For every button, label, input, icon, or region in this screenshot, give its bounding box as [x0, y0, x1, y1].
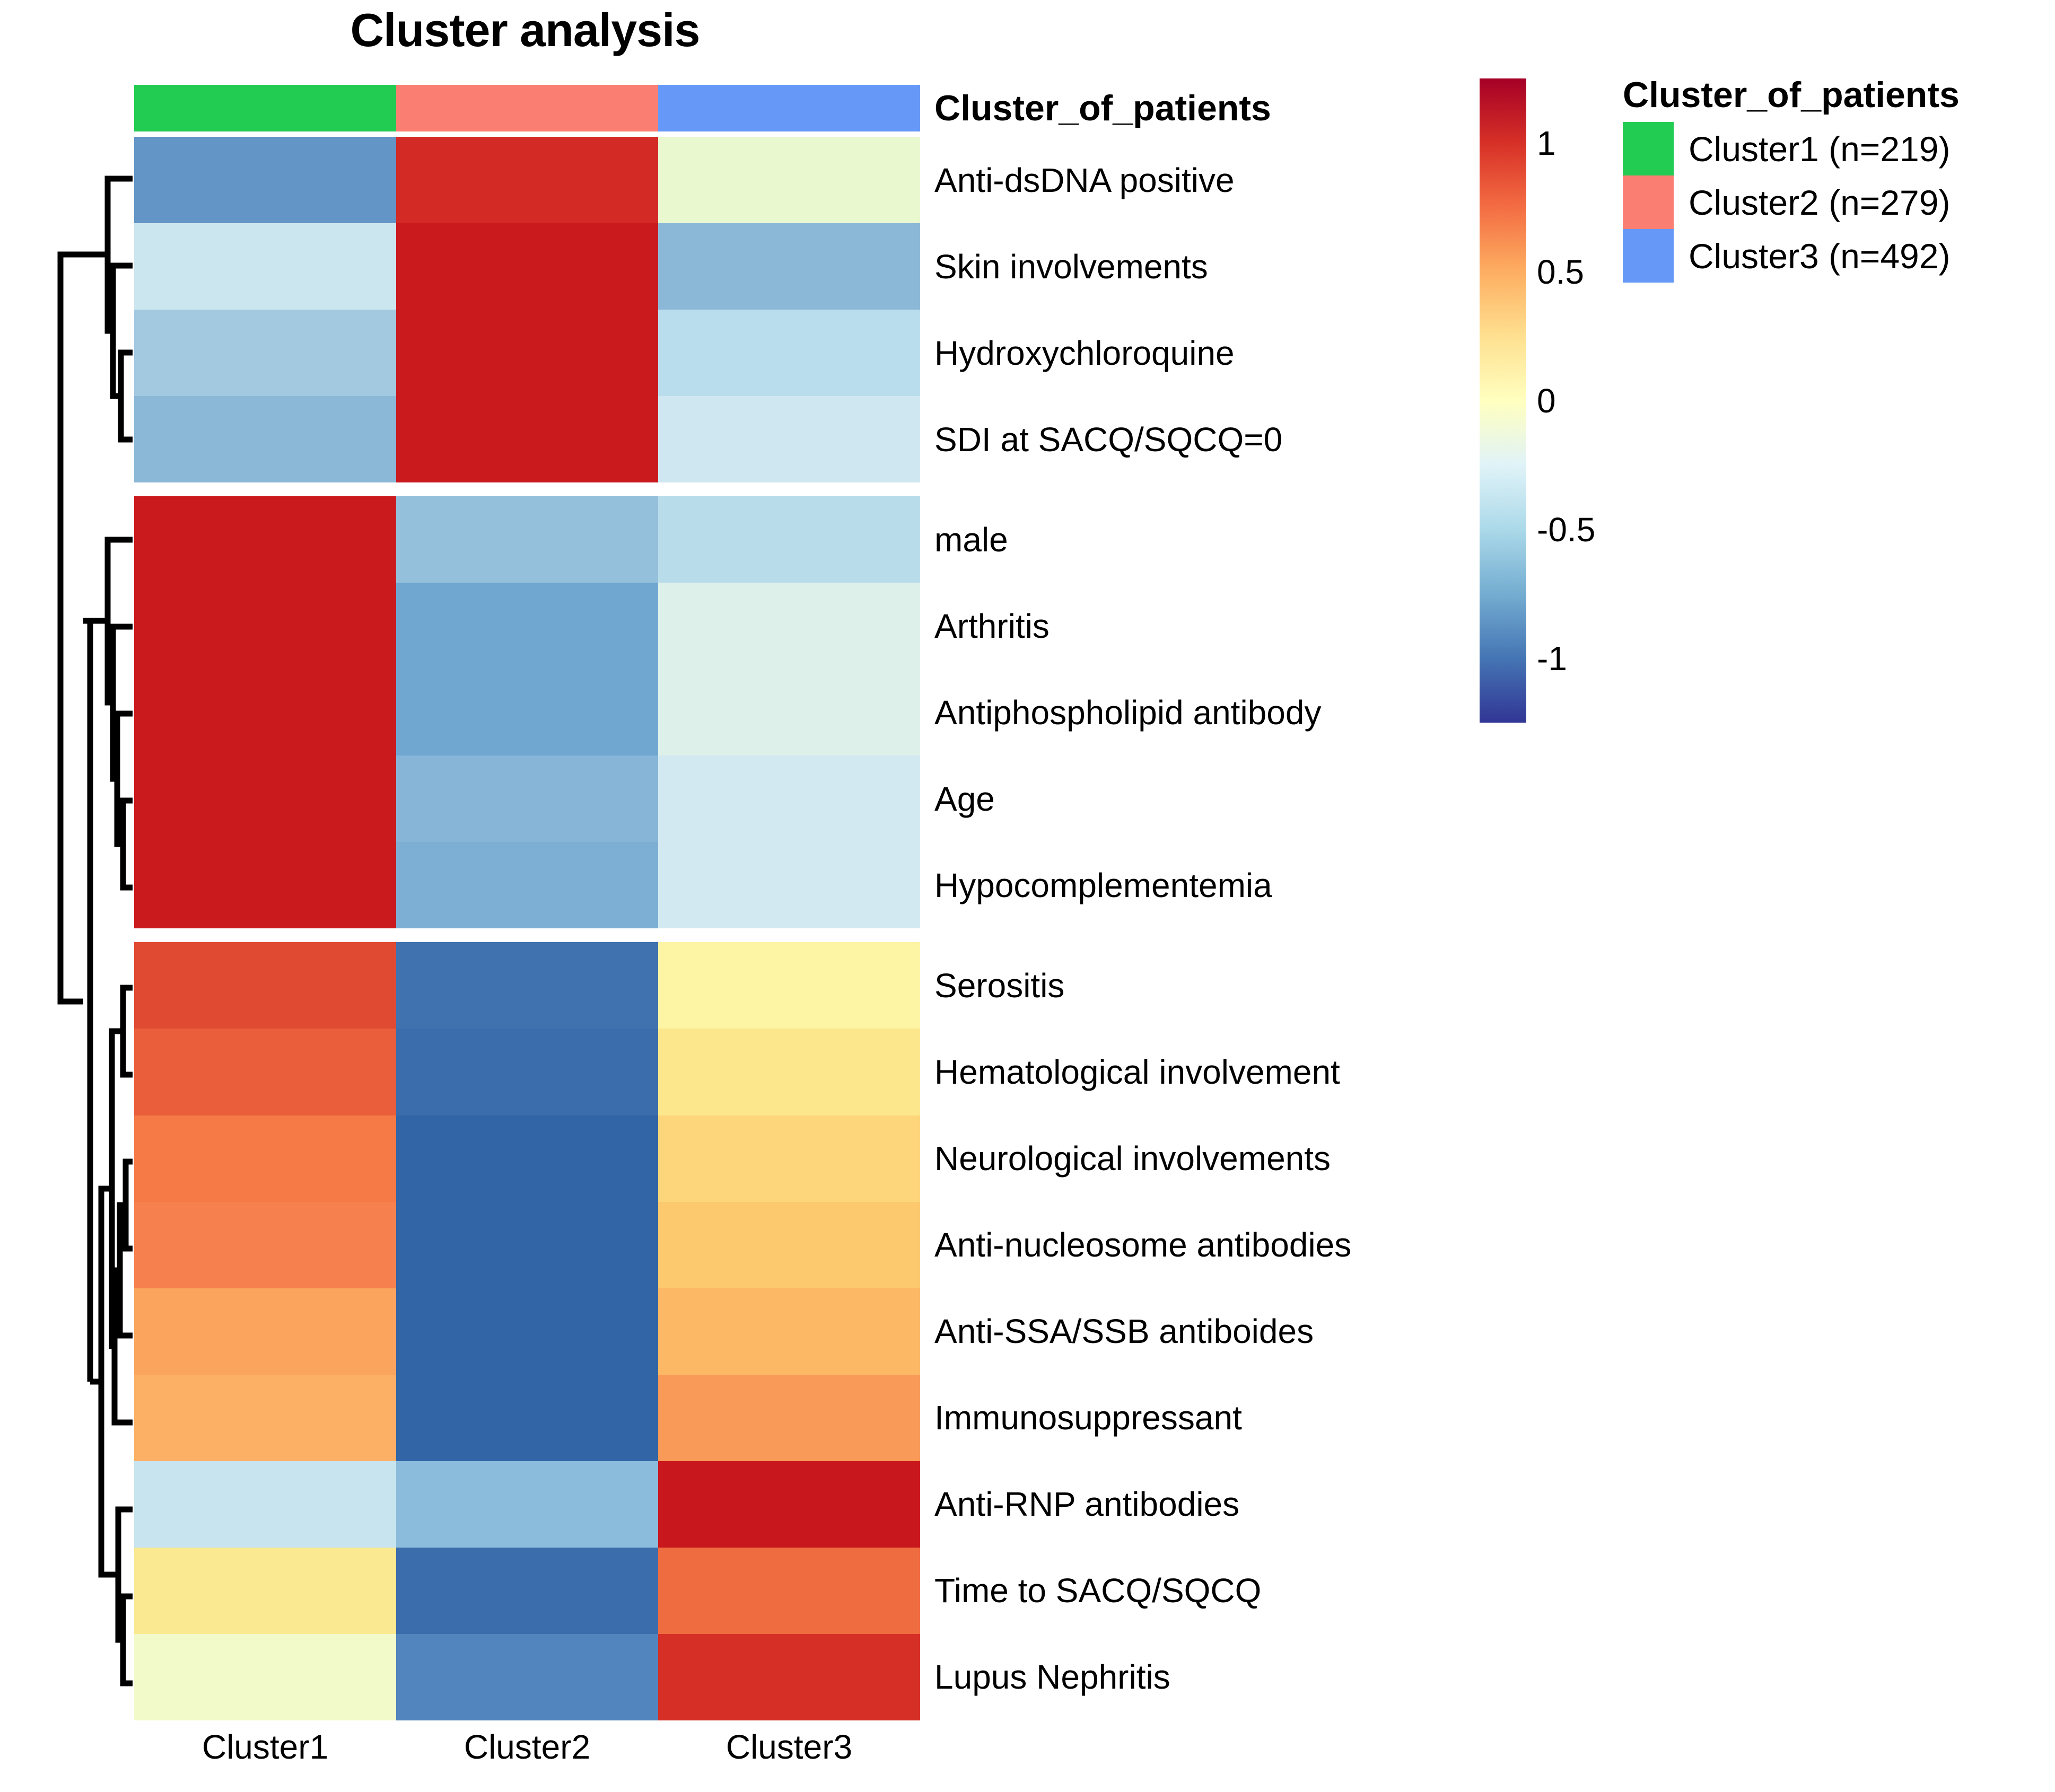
- heatmap-row: [134, 942, 920, 1029]
- colorbar-tick-label: -0.5: [1537, 510, 1595, 549]
- heatmap-cell: [134, 1375, 396, 1461]
- anno-cell-cluster3: [658, 85, 920, 131]
- heatmap-cell: [134, 310, 396, 396]
- heatmap-cell: [134, 396, 396, 482]
- heatmap-cell: [134, 137, 396, 223]
- heatmap-row: [134, 310, 920, 396]
- heatmap-cell: [658, 942, 920, 1029]
- heatmap-row-label: Antiphospholipid antibody: [934, 669, 1465, 756]
- heatmap-row: [134, 583, 920, 669]
- heatmap-cell: [134, 1029, 396, 1115]
- heatmap-row-label: Time to SACQ/SQCQ: [934, 1548, 1465, 1634]
- heatmap-cell: [134, 1548, 396, 1634]
- heatmap-row-group: [134, 496, 920, 928]
- heatmap-row: [134, 223, 920, 310]
- heatmap-cell: [658, 1461, 920, 1548]
- heatmap-row-label: Anti-dsDNA positive: [934, 137, 1465, 223]
- heatmap-row-label: Arthritis: [934, 583, 1465, 669]
- heatmap-cell: [396, 496, 658, 583]
- row-label-group-gap: [934, 482, 1465, 496]
- cluster-annotation-bar: [134, 85, 920, 131]
- heatmap-cell: [396, 1115, 658, 1202]
- heatmap-cell: [396, 1461, 658, 1548]
- heatmap-cell: [658, 1548, 920, 1634]
- heatmap-cell: [658, 1288, 920, 1375]
- colorbar-legend: 10.50-0.5-1: [1480, 78, 1639, 723]
- heatmap-row: [134, 1634, 920, 1720]
- heatmap-cell: [396, 583, 658, 669]
- heatmap-cell: [658, 669, 920, 756]
- anno-cell-cluster2: [396, 85, 658, 131]
- heatmap-cell: [658, 756, 920, 842]
- row-label-group-gap: [934, 928, 1465, 942]
- heatmap-row-label: Skin involvements: [934, 223, 1465, 310]
- row-label-group: maleArthritisAntiphospholipid antibodyAg…: [934, 496, 1465, 928]
- heatmap-cell: [396, 137, 658, 223]
- heatmap-cell: [134, 223, 396, 310]
- column-label-1: Cluster1: [134, 1727, 396, 1786]
- heatmap-row-label: Serositis: [934, 942, 1465, 1029]
- row-dendrogram: [45, 135, 133, 1720]
- legend-item-cluster2: Cluster2 (n=279): [1623, 175, 2047, 229]
- heatmap-row-label: Hydroxychloroquine: [934, 310, 1465, 396]
- heatmap-row: [134, 496, 920, 583]
- heatmap-row: [134, 1548, 920, 1634]
- heatmap-row-group: [134, 137, 920, 482]
- colorbar-tick-label: 0.5: [1537, 252, 1584, 292]
- heatmap-cell: [396, 756, 658, 842]
- legend-swatch-cluster2: [1623, 175, 1674, 229]
- heatmap-cell: [134, 1461, 396, 1548]
- heatmap-row-labels: Anti-dsDNA positiveSkin involvementsHydr…: [934, 137, 1465, 1720]
- heatmap-row: [134, 1115, 920, 1202]
- heatmap-row: [134, 842, 920, 928]
- heatmap-row-label: SDI at SACQ/SQCQ=0: [934, 396, 1465, 482]
- heatmap-cell: [134, 942, 396, 1029]
- heatmap-cell: [134, 842, 396, 928]
- heatmap-row-label: male: [934, 496, 1465, 583]
- column-label-2: Cluster2: [396, 1727, 658, 1786]
- heatmap-row: [134, 1288, 920, 1375]
- legend-label-cluster3: Cluster3 (n=492): [1689, 236, 1950, 276]
- heatmap-cell: [396, 1288, 658, 1375]
- heatmap-row: [134, 1375, 920, 1461]
- legend-item-cluster1: Cluster1 (n=219): [1623, 122, 2047, 175]
- heatmap-cell: [396, 310, 658, 396]
- heatmap-cell: [658, 583, 920, 669]
- legend-title: Cluster_of_patients: [1623, 74, 2047, 116]
- colorbar-tick-label: -1: [1537, 639, 1567, 678]
- anno-cell-cluster1: [134, 85, 396, 131]
- heatmap-cell: [658, 137, 920, 223]
- heatmap-group-gap: [134, 928, 920, 942]
- heatmap-row-label: Age: [934, 756, 1465, 842]
- heatmap-cell: [396, 1375, 658, 1461]
- heatmap-column-labels: Cluster1 Cluster2 Cluster3: [134, 1727, 920, 1786]
- heatmap-row-label: Neurological involvements: [934, 1115, 1465, 1202]
- heatmap-row: [134, 1029, 920, 1115]
- heatmap-row: [134, 396, 920, 482]
- heatmap-cell: [658, 1634, 920, 1720]
- heatmap-cell: [134, 756, 396, 842]
- heatmap-group-gap: [134, 482, 920, 496]
- heatmap-row: [134, 669, 920, 756]
- heatmap-cell: [134, 669, 396, 756]
- row-label-group: Anti-dsDNA positiveSkin involvementsHydr…: [934, 137, 1465, 482]
- row-label-group: SerositisHematological involvementNeurol…: [934, 942, 1465, 1720]
- heatmap-cell: [658, 396, 920, 482]
- heatmap-cell: [396, 942, 658, 1029]
- heatmap-cell: [396, 842, 658, 928]
- cluster-analysis-heatmap-figure: Cluster analysis: [0, 0, 2055, 1792]
- heatmap-row: [134, 756, 920, 842]
- heatmap-body: [134, 137, 920, 1720]
- heatmap-cell: [658, 842, 920, 928]
- heatmap-row: [134, 137, 920, 223]
- heatmap-cell: [658, 496, 920, 583]
- heatmap-cell: [396, 396, 658, 482]
- heatmap-cell: [134, 1202, 396, 1288]
- cluster-legend: Cluster_of_patients Cluster1 (n=219) Clu…: [1623, 74, 2047, 283]
- heatmap-cell: [134, 1115, 396, 1202]
- heatmap-cell: [396, 1202, 658, 1288]
- heatmap-cell: [396, 1029, 658, 1115]
- heatmap-cell: [134, 1288, 396, 1375]
- colorbar-tick-label: 0: [1537, 381, 1556, 420]
- heatmap-row: [134, 1202, 920, 1288]
- page-title: Cluster analysis: [127, 3, 923, 57]
- heatmap-cell: [658, 310, 920, 396]
- heatmap-cell: [134, 496, 396, 583]
- heatmap-row-label: Lupus Nephritis: [934, 1634, 1465, 1720]
- heatmap-row: [134, 1461, 920, 1548]
- heatmap-cell: [658, 1029, 920, 1115]
- heatmap-cell: [134, 583, 396, 669]
- legend-swatch-cluster3: [1623, 229, 1674, 283]
- heatmap-cell: [658, 1115, 920, 1202]
- heatmap-cell: [658, 223, 920, 310]
- heatmap-row-label: Immunosuppressant: [934, 1375, 1465, 1461]
- legend-item-cluster3: Cluster3 (n=492): [1623, 229, 2047, 283]
- colorbar-tick-label: 1: [1537, 124, 1556, 163]
- heatmap-row-label: Hypocomplementemia: [934, 842, 1465, 928]
- heatmap-row-label: Anti-nucleosome antibodies: [934, 1202, 1465, 1288]
- legend-label-cluster2: Cluster2 (n=279): [1689, 182, 1950, 223]
- heatmap-cell: [658, 1202, 920, 1288]
- heatmap-row-group: [134, 942, 920, 1720]
- heatmap-row-label: Anti-SSA/SSB antiboides: [934, 1288, 1465, 1375]
- heatmap-cell: [658, 1375, 920, 1461]
- heatmap-cell: [396, 223, 658, 310]
- legend-swatch-cluster1: [1623, 122, 1674, 175]
- heatmap-cell: [134, 1634, 396, 1720]
- cluster-annotation-label: Cluster_of_patients: [934, 85, 1271, 131]
- legend-label-cluster1: Cluster1 (n=219): [1689, 129, 1950, 169]
- heatmap-cell: [396, 669, 658, 756]
- column-label-3: Cluster3: [658, 1727, 920, 1786]
- heatmap-cell: [396, 1548, 658, 1634]
- heatmap-row-label: Anti-RNP antibodies: [934, 1461, 1465, 1548]
- colorbar-gradient: [1480, 78, 1526, 723]
- heatmap-row-label: Hematological involvement: [934, 1029, 1465, 1115]
- heatmap-cell: [396, 1634, 658, 1720]
